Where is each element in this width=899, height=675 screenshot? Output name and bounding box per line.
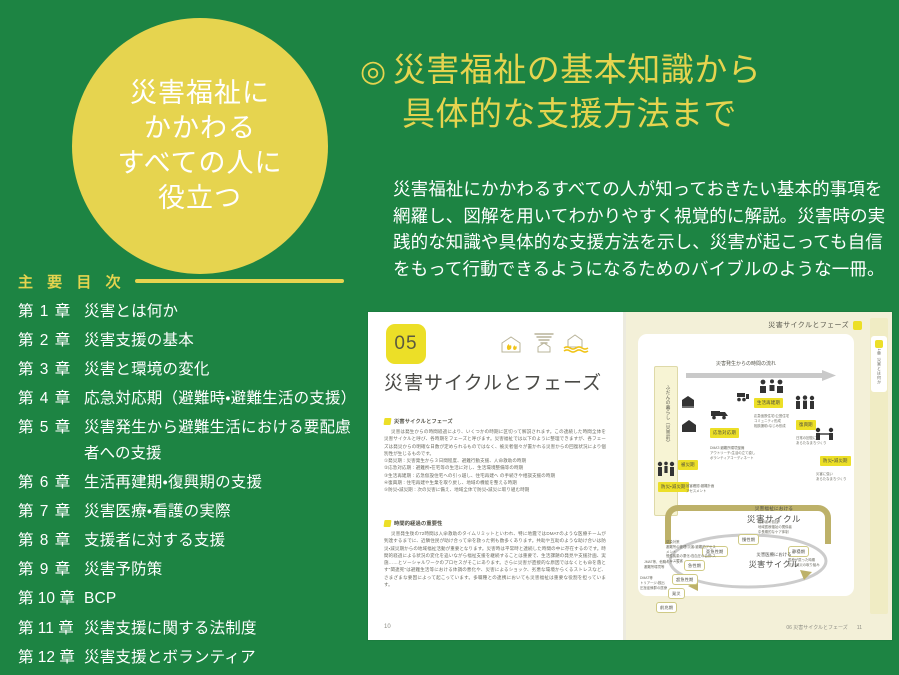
book-section-1-body: 災害は発生からの時間経過により、いくつかの時期に区切って解説されます。この連続し… xyxy=(384,428,606,494)
toc-item-12: 第 12 章 災害支援とボランティア xyxy=(18,646,364,670)
toc-item-title: 災害発生から避難生活における要配慮 xyxy=(84,416,351,440)
phase-chip-seikatsu: 生活再建期 xyxy=(754,398,783,408)
phase-chip-oukyu: 応急対応期 xyxy=(710,428,739,438)
toc-item-number: 第 11 章 xyxy=(18,617,84,641)
phase-chip-bosai-2: 防災・減災期 xyxy=(820,456,851,466)
toc-item-number: 第 5 章 xyxy=(18,416,84,440)
toc-item-1: 第 1 章 災害とは何か xyxy=(18,300,364,324)
phase-note-2: DMAT・避難所環境整備 アウトリーチ・生活の立て直し ボランティアコーディネー… xyxy=(710,446,766,460)
truck-pictogram-icon xyxy=(710,406,730,420)
toc-item-9: 第 9 章 災害予防策 xyxy=(18,558,364,582)
running-head-badge-icon xyxy=(853,321,862,330)
toc-item-title: 災害支援に関する法制度 xyxy=(84,617,257,641)
toc-item-title: 災害とは何か xyxy=(84,300,178,324)
house-pictogram-icon xyxy=(680,418,698,434)
toc-item-title: 災害医療・看護の実際 xyxy=(84,500,231,524)
toc-item-number: 第 3 章 xyxy=(18,358,84,382)
family-pictogram-icon xyxy=(656,460,676,478)
book-section-1-list-item: ⑤防災・減災期：次の災害に備え、地域全体で防災・減災に取り組む時期 xyxy=(384,486,606,493)
book-section-2-body: 災害発生後の72時間は人命救助のタイムリミットといわれ、特に地震ではDMATのよ… xyxy=(384,530,606,588)
toc-list: 第 1 章 災害とは何か 第 2 章 災害支援の基本 第 3 章 災害と環境の変… xyxy=(18,300,364,675)
community-group-icon xyxy=(794,394,816,412)
book-right-page: 第1章 災害とは何か 災害サイクルとフェーズ 災害発生からの時間の流れ ふだんの… xyxy=(626,312,892,640)
right-page-footer: 06 災害サイクルとフェーズ 11 xyxy=(786,624,862,631)
toc-heading-label: 主 要 目 次 xyxy=(18,271,126,292)
medical-note-1: DMAT等 トリアージ・救出 圧挫症候群の医療 xyxy=(640,576,672,590)
book-section-2-heading-text: 時間的経過の重要性 xyxy=(394,520,443,527)
book-section-1-heading-text: 災害サイクルとフェーズ xyxy=(394,418,453,425)
toc-item-title: 災害支援とボランティア xyxy=(84,646,256,670)
pre-disaster-label: ふだんの暮らし（災害前） xyxy=(657,372,671,458)
medical-note-2: JMAT等、他職のチーム 避難所環境等 xyxy=(644,560,680,570)
toc-item-6: 第 6 章 生活再建期・復興期の支援 xyxy=(18,471,364,495)
toc-item-2: 第 2 章 災害支援の基本 xyxy=(18,329,364,353)
hero-circle-line-1: 災害福祉に xyxy=(130,77,270,110)
book-section-2-heading: 時間的経過の重要性 xyxy=(384,520,606,527)
lede-paragraph: 災害福祉にかかわるすべての人が知っておきたい基本的事項を網羅し、図解を用いてわか… xyxy=(393,176,893,282)
toc-item-title: BCP xyxy=(84,587,116,611)
section-marker-icon xyxy=(384,418,392,425)
toc-item-number: 第 2 章 xyxy=(18,329,84,353)
phase-note-1: 被害確認・避難計画 アセスメント xyxy=(686,484,730,494)
book-section-1-list-item: ①発災期：災害発生から３日間程度、避難行動支援、人命救助の時期 xyxy=(384,457,606,464)
welfare-cycle-caption-small: 災害福祉における xyxy=(734,506,814,512)
toc-item-5-continuation: 者への支援 xyxy=(18,442,364,466)
hero-circle-line-2: かかわる xyxy=(144,112,256,145)
side-tab-marker-icon xyxy=(875,340,883,348)
phase-note-5: 災害に強い あらたなまちづくり xyxy=(816,472,854,482)
phase-chip-bosai: 防災・減災期 xyxy=(658,482,689,492)
toc-item-11: 第 11 章 災害支援に関する法制度 xyxy=(18,617,364,641)
running-head: 災害サイクルとフェーズ xyxy=(768,320,862,330)
burning-house-icon xyxy=(498,330,526,354)
medical-cycle-caption-small: 災害医療における xyxy=(734,552,814,558)
book-spread-preview: 05 災害サイクルとフェーズ 災害サイクルとフェーズ xyxy=(368,312,892,640)
medical-note-4: 高齢者の孤独 地域医療福祉の関係者 中長期的なケア体制 xyxy=(758,520,806,534)
toc-heading-rule xyxy=(135,279,344,283)
toc-item-number: 第 6 章 xyxy=(18,471,84,495)
medical-phase-zenchoki: 前兆期 xyxy=(656,602,677,613)
toc-item-title: 生活再建期・復興期の支援 xyxy=(84,471,262,495)
diagram-card: 災害発生からの時間の流れ ふだんの暮らし（災害前） xyxy=(638,334,854,596)
toc-item-3: 第 3 章 災害と環境の変化 xyxy=(18,358,364,382)
headline: ◎災害福祉の基本知識から 具体的な支援方法まで xyxy=(360,48,890,136)
toc-item-4: 第 4 章 応急対応期（避難時・避難生活の支援） xyxy=(18,387,364,411)
toc-heading: 主 要 目 次 xyxy=(18,268,348,294)
medical-phase-mansei: 慢性期 xyxy=(738,534,759,545)
toc-item-number: 第 12 章 xyxy=(18,646,84,670)
promo-page: 災害福祉に かかわる すべての人に 役立つ 主 要 目 次 第 1 章 災害とは… xyxy=(0,0,899,663)
toc-item-title: 応急対応期（避難時・避難生活の支援） xyxy=(84,387,356,411)
toc-item-5: 第 5 章 災害発生から避難生活における要配慮 xyxy=(18,416,364,440)
chapter-title: 災害サイクルとフェーズ xyxy=(384,368,602,395)
toc-item-number: 第 8 章 xyxy=(18,529,84,553)
toc-item-8: 第 8 章 支援者に対する支援 xyxy=(18,529,364,553)
phase-note-4: 日常の回復に あらたなまちづくり xyxy=(796,436,836,446)
toc-item-7: 第 7 章 災害医療・看護の実際 xyxy=(18,500,364,524)
headline-line-2: 具体的な支援方法まで xyxy=(360,92,890,136)
toc-item-number: 第 4 章 xyxy=(18,387,84,411)
book-section-1-list-item: ④復興期：住宅再建や生業を取り戻し、地域の機能を整える時期 xyxy=(384,479,606,486)
toc-item-number: 第 9 章 xyxy=(18,558,84,582)
book-section-1: 災害サイクルとフェーズ 災害は発生からの時間経過により、いくつかの時期に区切って… xyxy=(384,418,606,494)
timeline-label: 災害発生からの時間の流れ xyxy=(716,360,776,367)
toc-item-number: 第 7 章 xyxy=(18,500,84,524)
book-section-2-paragraph: 災害発生後の72時間は人命救助のタイムリミットといわれ、特に地震ではDMATのよ… xyxy=(384,530,606,588)
toc-item-title: 災害予防策 xyxy=(84,558,163,582)
flooded-house-icon xyxy=(562,330,592,354)
phase-note-3: 応急仮設住宅・公営住宅 コミュニティ形成 相談援助・なじみ形成 xyxy=(754,414,798,428)
book-section-1-list-item: ②応急対応期：避難所・在宅等の生活に対し、生活環境整備等の時期 xyxy=(384,464,606,471)
hero-circle-line-3: すべての人に xyxy=(117,147,282,180)
medical-cycle-caption: 災害医療における 災害サイクル xyxy=(734,552,814,570)
toc-item-title: 災害と環境の変化 xyxy=(84,358,210,382)
headline-line-1: 災害福祉の基本知識から xyxy=(393,51,762,88)
chapter-number-badge: 05 xyxy=(386,324,426,364)
right-page-footer-caption: 06 災害サイクルとフェーズ xyxy=(786,624,847,631)
hero-circle: 災害福祉に かかわる すべての人に 役立つ xyxy=(72,18,328,274)
hero-circle-line-4: 役立つ xyxy=(158,182,242,215)
right-page-number: 11 xyxy=(857,625,862,631)
left-page-number: 10 xyxy=(384,624,391,630)
damaged-house-icon xyxy=(680,394,696,408)
section-marker-icon xyxy=(384,520,392,527)
book-left-page: 05 災害サイクルとフェーズ 災害サイクルとフェーズ xyxy=(368,312,623,640)
bulldozer-icon xyxy=(734,390,752,402)
running-head-text: 災害サイクルとフェーズ xyxy=(768,320,849,330)
book-section-2: 時間的経過の重要性 災害発生後の72時間は人命救助のタイムリミットといわれ、特に… xyxy=(384,520,606,588)
toc-item-number: 第 1 章 xyxy=(18,300,84,324)
medical-phase-chokyusei: 超急性期 xyxy=(672,574,698,585)
medical-cycle-caption-big: 災害サイクル xyxy=(734,559,814,570)
book-section-1-list-item: ③生活再建期：応急仮設住宅への引っ越し、住宅再建へ の手続きや相談支援の時期 xyxy=(384,472,606,479)
book-section-1-heading: 災害サイクルとフェーズ xyxy=(384,418,606,425)
toc-item-number: 第 10 章 xyxy=(18,587,84,611)
tornado-icon xyxy=(530,330,558,354)
toc-item-title: 災害支援の基本 xyxy=(84,329,194,353)
toc-item-title: 支援者に対する支援 xyxy=(84,529,225,553)
book-section-1-paragraph: 災害は発生からの時間経過により、いくつかの時期に区切って解説されます。この連続し… xyxy=(384,428,606,457)
support-people-icon xyxy=(758,378,784,398)
phase-chip-fukko: 復興期 xyxy=(796,420,816,430)
toc-item-10: 第 10 章 BCP xyxy=(18,587,364,611)
headline-bullet-icon: ◎ xyxy=(360,55,387,88)
phase-chip-hisai: 被災期 xyxy=(678,460,698,470)
